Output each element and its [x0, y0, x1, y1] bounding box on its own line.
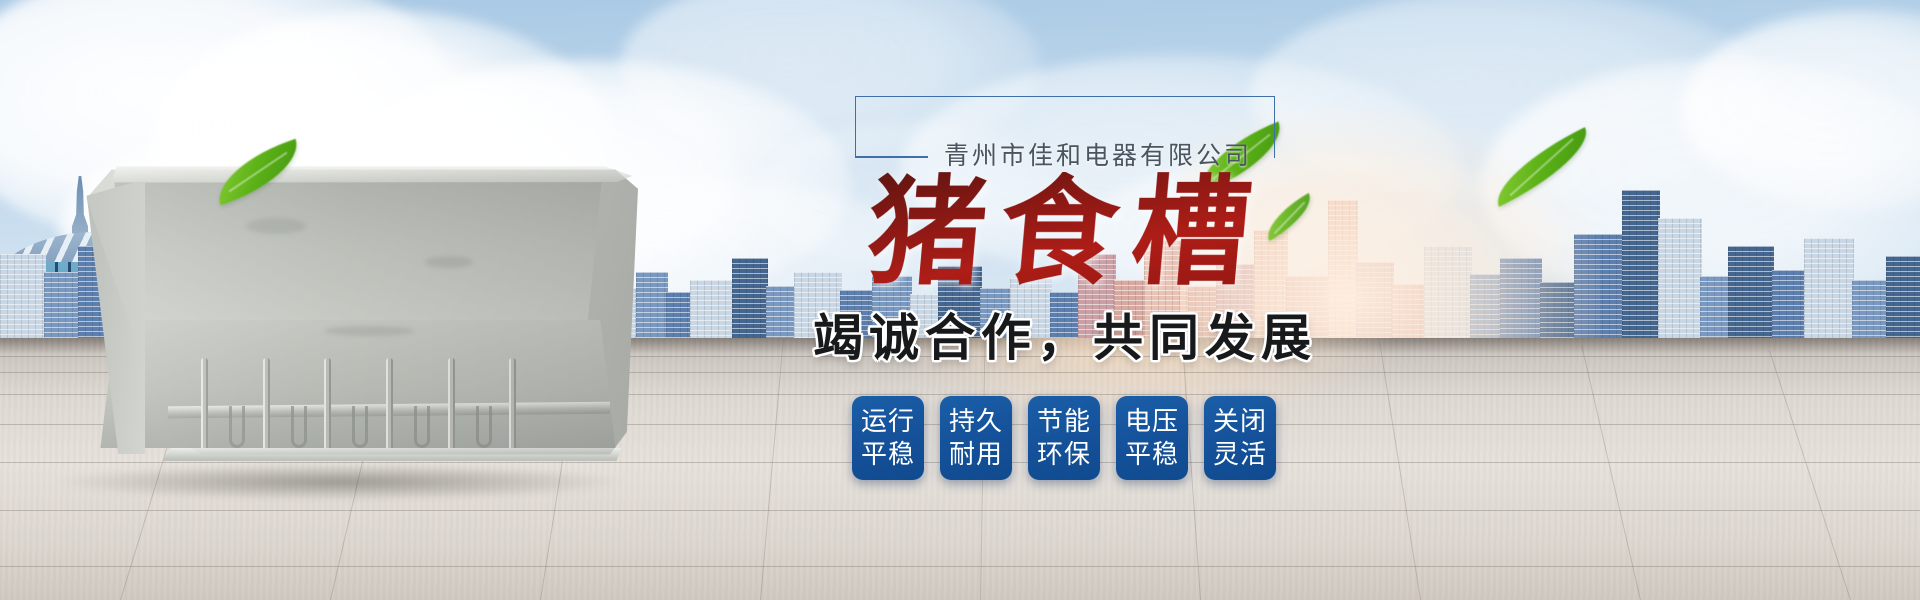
building — [1424, 246, 1472, 350]
badge-line-1: 电压 — [1125, 405, 1179, 438]
building — [1574, 234, 1624, 350]
feature-badge-1[interactable]: 运行 平稳 — [852, 396, 924, 480]
badge-line-2: 平稳 — [1125, 438, 1179, 471]
product-image-pig-feeding-trough — [78, 160, 638, 480]
feature-badge-list: 运行 平稳 持久 耐用 节能 环保 电压 平稳 关闭 灵活 — [700, 396, 1420, 480]
feature-badge-4[interactable]: 电压 平稳 — [1116, 396, 1188, 480]
badge-line-2: 平稳 — [861, 438, 915, 471]
building — [1804, 238, 1854, 350]
building — [0, 254, 46, 350]
badge-line-2: 灵活 — [1213, 438, 1267, 471]
feature-badge-5[interactable]: 关闭 灵活 — [1204, 396, 1276, 480]
building — [1658, 218, 1702, 350]
badge-line-2: 环保 — [1037, 438, 1091, 471]
building — [1500, 258, 1542, 350]
feature-badge-3[interactable]: 节能 环保 — [1028, 396, 1100, 480]
slogan-subtitle: 竭诚合作，共同发展 — [700, 298, 1420, 370]
badge-line-2: 耐用 — [949, 438, 1003, 471]
banner-copy-block: 青州市佳和电器有限公司 猪食槽 竭诚合作，共同发展 运行 平稳 持久 耐用 节能… — [700, 96, 1420, 480]
badge-line-1: 运行 — [861, 405, 915, 438]
badge-line-1: 持久 — [949, 405, 1003, 438]
feature-badge-2[interactable]: 持久 耐用 — [940, 396, 1012, 480]
building — [1622, 190, 1660, 350]
company-name-frame: 青州市佳和电器有限公司 — [855, 96, 1275, 158]
building — [1728, 246, 1774, 350]
badge-line-1: 节能 — [1037, 405, 1091, 438]
badge-line-1: 关闭 — [1213, 405, 1267, 438]
building — [1886, 256, 1920, 350]
company-name: 青州市佳和电器有限公司 — [944, 136, 1252, 172]
promotional-banner: 青州市佳和电器有限公司 猪食槽 竭诚合作，共同发展 运行 平稳 持久 耐用 节能… — [0, 0, 1920, 600]
page-title: 猪食槽 — [695, 172, 1426, 296]
